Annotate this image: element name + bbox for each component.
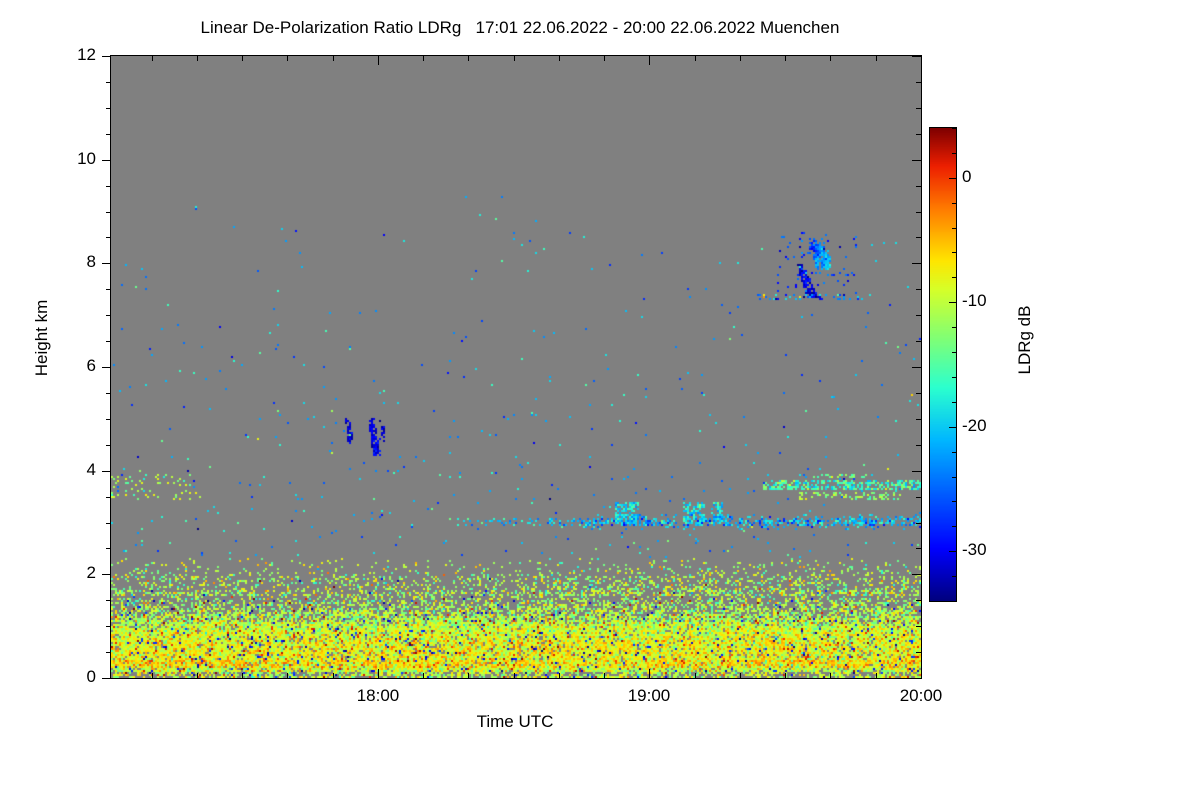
y-tick-minor-right xyxy=(916,600,921,601)
y-tick-major-right xyxy=(912,56,921,57)
x-tick-minor xyxy=(876,673,877,678)
colorbar-tick-major xyxy=(949,427,956,428)
x-tick-minor xyxy=(740,673,741,678)
x-tick-label: 18:00 xyxy=(333,686,423,706)
y-axis-title: Height km xyxy=(32,268,52,408)
y-tick-minor-right xyxy=(916,393,921,394)
y-tick-minor xyxy=(106,237,111,238)
colorbar-tick-minor xyxy=(952,377,956,378)
x-tick-label: 19:00 xyxy=(604,686,694,706)
x-tick-minor-top xyxy=(785,56,786,61)
y-tick-major-right xyxy=(912,471,921,472)
heatmap-plot-area[interactable] xyxy=(110,55,922,679)
y-tick-minor-right xyxy=(916,497,921,498)
y-tick-major xyxy=(102,56,111,57)
y-tick-major xyxy=(102,678,111,679)
x-tick-major-top xyxy=(378,56,379,65)
x-tick-major xyxy=(378,669,379,678)
colorbar-title: LDRg dB xyxy=(1015,270,1035,410)
y-tick-minor-right xyxy=(916,548,921,549)
heatmap-canvas xyxy=(111,56,921,678)
x-tick-minor xyxy=(514,673,515,678)
y-tick-major xyxy=(102,367,111,368)
colorbar-tick-minor xyxy=(952,477,956,478)
colorbar-gradient xyxy=(930,128,956,601)
colorbar-tick-major xyxy=(949,551,956,552)
colorbar-tick-minor xyxy=(952,402,956,403)
y-tick-major xyxy=(102,471,111,472)
colorbar-tick-label: -20 xyxy=(962,416,987,436)
page-title: Linear De-Polarization Ratio LDRg 17:01 … xyxy=(0,18,1040,38)
colorbar-tick-minor xyxy=(952,352,956,353)
colorbar-tick-label: 0 xyxy=(962,167,971,187)
figure-root: Linear De-Polarization Ratio LDRg 17:01 … xyxy=(0,0,1200,800)
y-tick-minor-right xyxy=(916,315,921,316)
x-tick-minor xyxy=(559,673,560,678)
x-tick-minor xyxy=(604,673,605,678)
x-tick-major-top xyxy=(649,56,650,65)
x-tick-major xyxy=(921,669,922,678)
y-tick-minor xyxy=(106,393,111,394)
x-tick-minor-top xyxy=(604,56,605,61)
colorbar-tick-minor xyxy=(952,501,956,502)
x-tick-minor xyxy=(152,673,153,678)
y-tick-minor xyxy=(106,600,111,601)
colorbar-tick-major xyxy=(949,302,956,303)
colorbar-tick-minor xyxy=(952,601,956,602)
x-tick-minor xyxy=(785,673,786,678)
y-tick-minor-right xyxy=(916,445,921,446)
x-tick-minor-top xyxy=(468,56,469,61)
y-tick-minor xyxy=(106,186,111,187)
colorbar-tick-minor xyxy=(952,452,956,453)
y-tick-minor-right xyxy=(916,186,921,187)
y-tick-label: 0 xyxy=(36,667,96,687)
y-tick-minor-right xyxy=(916,212,921,213)
y-tick-minor xyxy=(106,548,111,549)
colorbar-tick-minor xyxy=(952,203,956,204)
colorbar[interactable] xyxy=(929,127,957,602)
y-tick-minor xyxy=(106,82,111,83)
colorbar-tick-minor xyxy=(952,327,956,328)
y-tick-minor xyxy=(106,212,111,213)
x-tick-minor-top xyxy=(559,56,560,61)
x-tick-minor-top xyxy=(423,56,424,61)
x-tick-minor-top xyxy=(152,56,153,61)
y-tick-label: 10 xyxy=(36,149,96,169)
y-tick-minor-right xyxy=(916,652,921,653)
colorbar-tick-minor xyxy=(952,576,956,577)
colorbar-tick-major xyxy=(949,178,956,179)
y-tick-major-right xyxy=(912,678,921,679)
x-tick-minor-top xyxy=(514,56,515,61)
y-tick-major xyxy=(102,263,111,264)
y-tick-minor-right xyxy=(916,237,921,238)
colorbar-tick-minor xyxy=(952,252,956,253)
y-tick-minor xyxy=(106,341,111,342)
colorbar-tick-minor xyxy=(952,128,956,129)
y-tick-major-right xyxy=(912,263,921,264)
y-tick-label: 4 xyxy=(36,460,96,480)
y-tick-minor xyxy=(106,134,111,135)
y-tick-minor-right xyxy=(916,626,921,627)
y-tick-minor xyxy=(106,289,111,290)
y-tick-label: 12 xyxy=(36,45,96,65)
y-tick-major-right xyxy=(912,160,921,161)
y-tick-minor-right xyxy=(916,419,921,420)
x-tick-minor xyxy=(695,673,696,678)
x-tick-minor-top xyxy=(197,56,198,61)
y-tick-minor-right xyxy=(916,82,921,83)
x-tick-minor xyxy=(468,673,469,678)
x-tick-minor xyxy=(423,673,424,678)
colorbar-tick-minor xyxy=(952,153,956,154)
x-tick-minor xyxy=(287,673,288,678)
y-tick-minor-right xyxy=(916,341,921,342)
colorbar-tick-label: -30 xyxy=(962,540,987,560)
x-tick-minor xyxy=(197,673,198,678)
x-tick-major-top xyxy=(921,56,922,65)
colorbar-tick-minor xyxy=(952,228,956,229)
x-tick-minor xyxy=(333,673,334,678)
x-tick-minor-top xyxy=(287,56,288,61)
y-tick-major xyxy=(102,574,111,575)
x-tick-label: 20:00 xyxy=(876,686,966,706)
y-tick-label: 2 xyxy=(36,563,96,583)
x-tick-major xyxy=(649,669,650,678)
colorbar-tick-label: -10 xyxy=(962,291,987,311)
y-tick-minor xyxy=(106,419,111,420)
y-tick-minor xyxy=(106,652,111,653)
y-tick-major-right xyxy=(912,574,921,575)
x-axis-title: Time UTC xyxy=(110,712,920,732)
y-tick-minor xyxy=(106,445,111,446)
y-tick-minor-right xyxy=(916,523,921,524)
x-tick-minor xyxy=(242,673,243,678)
y-tick-minor-right xyxy=(916,289,921,290)
y-tick-minor xyxy=(106,626,111,627)
x-tick-minor xyxy=(830,673,831,678)
y-tick-minor xyxy=(106,497,111,498)
y-tick-minor-right xyxy=(916,108,921,109)
y-tick-minor xyxy=(106,523,111,524)
y-tick-minor xyxy=(106,108,111,109)
y-tick-minor-right xyxy=(916,134,921,135)
x-tick-minor-top xyxy=(740,56,741,61)
x-tick-minor-top xyxy=(876,56,877,61)
x-tick-minor-top xyxy=(242,56,243,61)
colorbar-tick-minor xyxy=(952,277,956,278)
colorbar-tick-minor xyxy=(952,526,956,527)
y-tick-minor xyxy=(106,315,111,316)
x-tick-minor-top xyxy=(333,56,334,61)
x-tick-minor-top xyxy=(830,56,831,61)
x-tick-minor-top xyxy=(695,56,696,61)
y-tick-major xyxy=(102,160,111,161)
y-tick-major-right xyxy=(912,367,921,368)
